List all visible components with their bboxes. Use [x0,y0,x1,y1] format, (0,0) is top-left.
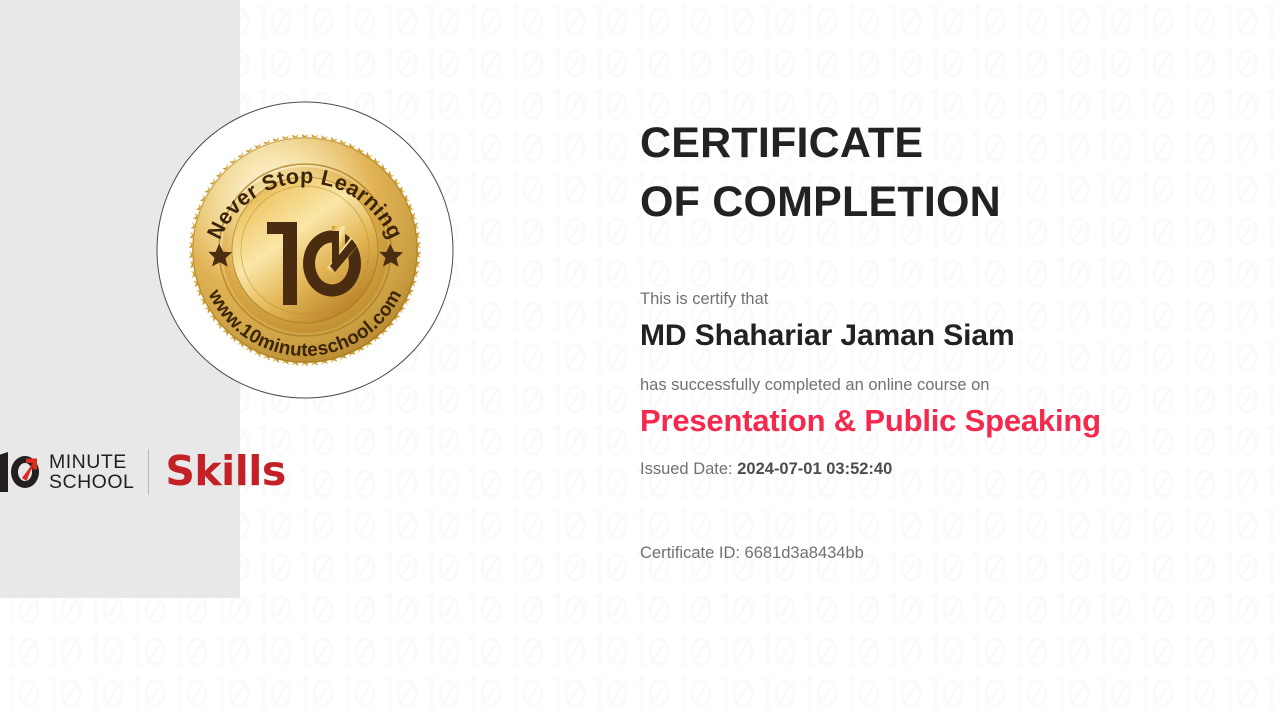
brand-product-skills: Skills [165,451,285,492]
issued-date-value: 2024-07-01 03:52:40 [737,460,892,478]
page-title: CERTIFICATE OF COMPLETION [640,114,1240,233]
certificate-id: Certificate ID: 6681d3a8434bb [640,541,1240,566]
title-line-1: CERTIFICATE [640,119,923,167]
recipient-name: MD Shahariar Jaman Siam [640,317,1240,355]
completion-text: has successfully completed an online cou… [640,373,1240,398]
issued-date-label: Issued Date: [640,460,733,478]
certificate-page: Never Stop Learning www.10minuteschool.c… [0,0,1280,720]
brand-divider [148,449,149,495]
seal-svg: Never Stop Learning www.10minuteschool.c… [155,100,455,400]
certificate-content: CERTIFICATE OF COMPLETION This is certif… [640,114,1240,566]
title-line-2: OF COMPLETION [640,178,1001,226]
brand-wordmark: MINUTE SCHOOL [49,452,134,493]
title-spacer [640,233,1240,287]
ten-minute-school-mark-icon [0,446,48,498]
lead-text: This is certify that [640,287,1240,312]
course-name: Presentation & Public Speaking [640,402,1240,440]
brand-logo: MINUTE SCHOOL Skills [0,444,286,500]
issued-date-row: Issued Date: 2024-07-01 03:52:40 [640,457,1240,482]
brand-word-minute: MINUTE [49,452,134,472]
certificate-seal: Never Stop Learning www.10minuteschool.c… [155,100,455,400]
brand-word-school: SCHOOL [49,472,134,492]
